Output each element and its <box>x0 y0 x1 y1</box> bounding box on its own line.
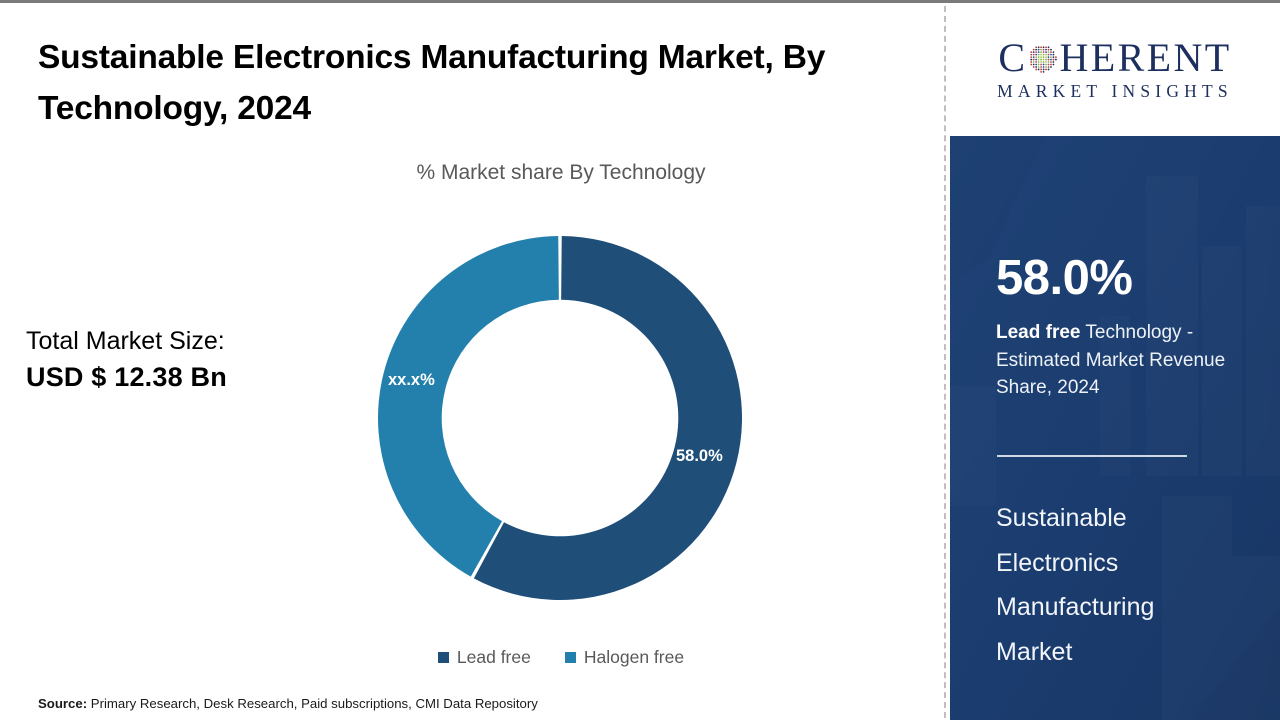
legend-swatch-icon <box>565 652 576 663</box>
chart-legend: Lead free Halogen free <box>216 647 906 668</box>
brand-wordmark: C HERENT <box>965 38 1265 78</box>
legend-item-halogen-free[interactable]: Halogen free <box>565 647 684 668</box>
chart-pane: Sustainable Electronics Manufacturing Ma… <box>0 3 946 720</box>
donut-chart-svg <box>370 228 750 608</box>
dotted-globe-icon <box>1027 43 1058 74</box>
donut-chart: xx.x% 58.0% <box>370 228 750 608</box>
panel-divider-rule <box>997 455 1187 457</box>
page-title: Sustainable Electronics Manufacturing Ma… <box>38 33 898 135</box>
stat-description: Lead free Technology - Estimated Market … <box>996 319 1246 402</box>
source-label: Source: <box>38 696 87 711</box>
brand-tagline: MARKET INSIGHTS <box>965 83 1265 101</box>
total-market-size-label: Total Market Size: <box>26 325 356 359</box>
legend-item-lead-free[interactable]: Lead free <box>438 647 531 668</box>
chart-subtitle: % Market share By Technology <box>216 161 906 185</box>
pane-divider <box>944 6 946 718</box>
brand-logo: C HERENT MARKET INSIGHTS <box>950 3 1280 136</box>
legend-swatch-icon <box>438 652 449 663</box>
legend-label: Lead free <box>457 647 531 668</box>
highlight-panel: 58.0% Lead free Technology - Estimated M… <box>950 136 1280 720</box>
total-market-size-block: Total Market Size: USD $ 12.38 Bn <box>26 325 356 395</box>
source-text: Primary Research, Desk Research, Paid su… <box>91 696 538 711</box>
slice-label-halogen-free: xx.x% <box>388 371 435 390</box>
donut-slice-halogen-free <box>378 236 559 577</box>
total-market-size-value: USD $ 12.38 Bn <box>26 359 356 395</box>
stat-description-strong: Lead free <box>996 322 1080 343</box>
legend-label: Halogen free <box>584 647 684 668</box>
stat-percentage: 58.0% <box>996 254 1132 303</box>
brand-name-part2: HERENT <box>1059 38 1231 78</box>
panel-market-name: Sustainable Electronics Manufacturing Ma… <box>996 496 1236 674</box>
slice-label-lead-free: 58.0% <box>676 447 723 466</box>
source-note: Source: Primary Research, Desk Research,… <box>38 696 538 711</box>
brand-name-part1: C <box>998 38 1027 78</box>
infographic-page: Sustainable Electronics Manufacturing Ma… <box>0 0 1280 720</box>
